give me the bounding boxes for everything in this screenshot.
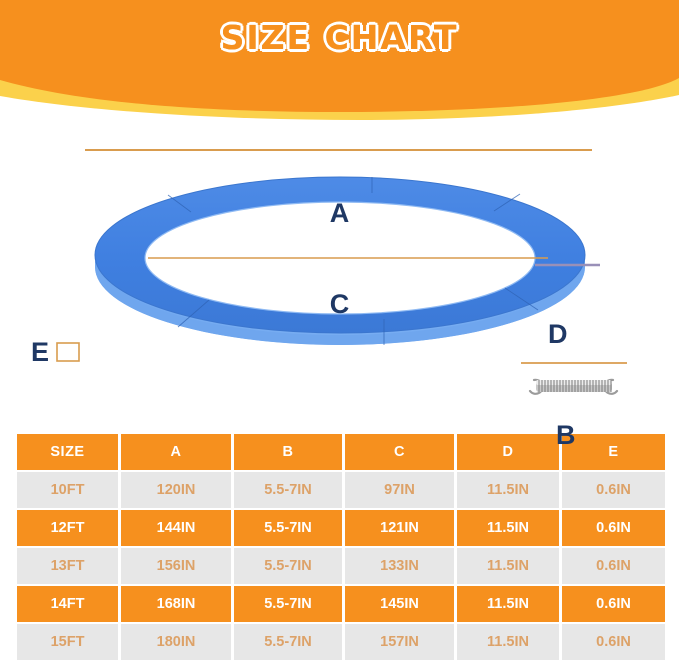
cell-c: 97IN (344, 471, 456, 509)
cell-a: 120IN (120, 471, 233, 509)
cell-a: 144IN (120, 509, 233, 547)
cell-d: 11.5IN (456, 585, 561, 623)
dimension-label-d: D (548, 321, 568, 348)
column-header-e: E (561, 433, 667, 471)
cell-e: 0.6IN (561, 585, 667, 623)
column-header-b: B (233, 433, 344, 471)
table-row: 10FT 120IN 5.5-7IN 97IN 11.5IN 0.6IN (16, 471, 667, 509)
cell-e: 0.6IN (561, 623, 667, 661)
table-row: 13FT 156IN 5.5-7IN 133IN 11.5IN 0.6IN (16, 547, 667, 585)
cell-b: 5.5-7IN (233, 509, 344, 547)
cell-d: 11.5IN (456, 547, 561, 585)
table-row: 12FT 144IN 5.5-7IN 121IN 11.5IN 0.6IN (16, 509, 667, 547)
size-chart-table: SIZE A B C D E 10FT 120IN 5.5-7IN 97IN 1… (14, 432, 668, 662)
thickness-marker-e (57, 343, 79, 361)
cell-a: 168IN (120, 585, 233, 623)
cell-size: 14FT (16, 585, 120, 623)
cell-b: 5.5-7IN (233, 585, 344, 623)
dimension-label-a: A (0, 200, 679, 227)
spring-icon (530, 380, 617, 394)
page-title: SIZE CHART (0, 18, 679, 57)
trampoline-size-diagram: A C D E B (0, 95, 679, 425)
cell-a: 156IN (120, 547, 233, 585)
cell-e: 0.6IN (561, 547, 667, 585)
cell-size: 15FT (16, 623, 120, 661)
cell-d: 11.5IN (456, 623, 561, 661)
cell-c: 133IN (344, 547, 456, 585)
cell-b: 5.5-7IN (233, 623, 344, 661)
column-header-d: D (456, 433, 561, 471)
cell-d: 11.5IN (456, 509, 561, 547)
column-header-c: C (344, 433, 456, 471)
cell-size: 13FT (16, 547, 120, 585)
table-row: 15FT 180IN 5.5-7IN 157IN 11.5IN 0.6IN (16, 623, 667, 661)
cell-c: 121IN (344, 509, 456, 547)
dimension-label-e: E (31, 339, 49, 366)
column-header-a: A (120, 433, 233, 471)
dimension-label-b: B (556, 422, 576, 449)
cell-b: 5.5-7IN (233, 471, 344, 509)
cell-d: 11.5IN (456, 471, 561, 509)
table-row: 14FT 168IN 5.5-7IN 145IN 11.5IN 0.6IN (16, 585, 667, 623)
cell-a: 180IN (120, 623, 233, 661)
cell-b: 5.5-7IN (233, 547, 344, 585)
column-header-size: SIZE (16, 433, 120, 471)
cell-size: 10FT (16, 471, 120, 509)
cell-c: 157IN (344, 623, 456, 661)
cell-c: 145IN (344, 585, 456, 623)
dimension-label-c: C (0, 291, 679, 318)
cell-size: 12FT (16, 509, 120, 547)
cell-e: 0.6IN (561, 471, 667, 509)
cell-e: 0.6IN (561, 509, 667, 547)
